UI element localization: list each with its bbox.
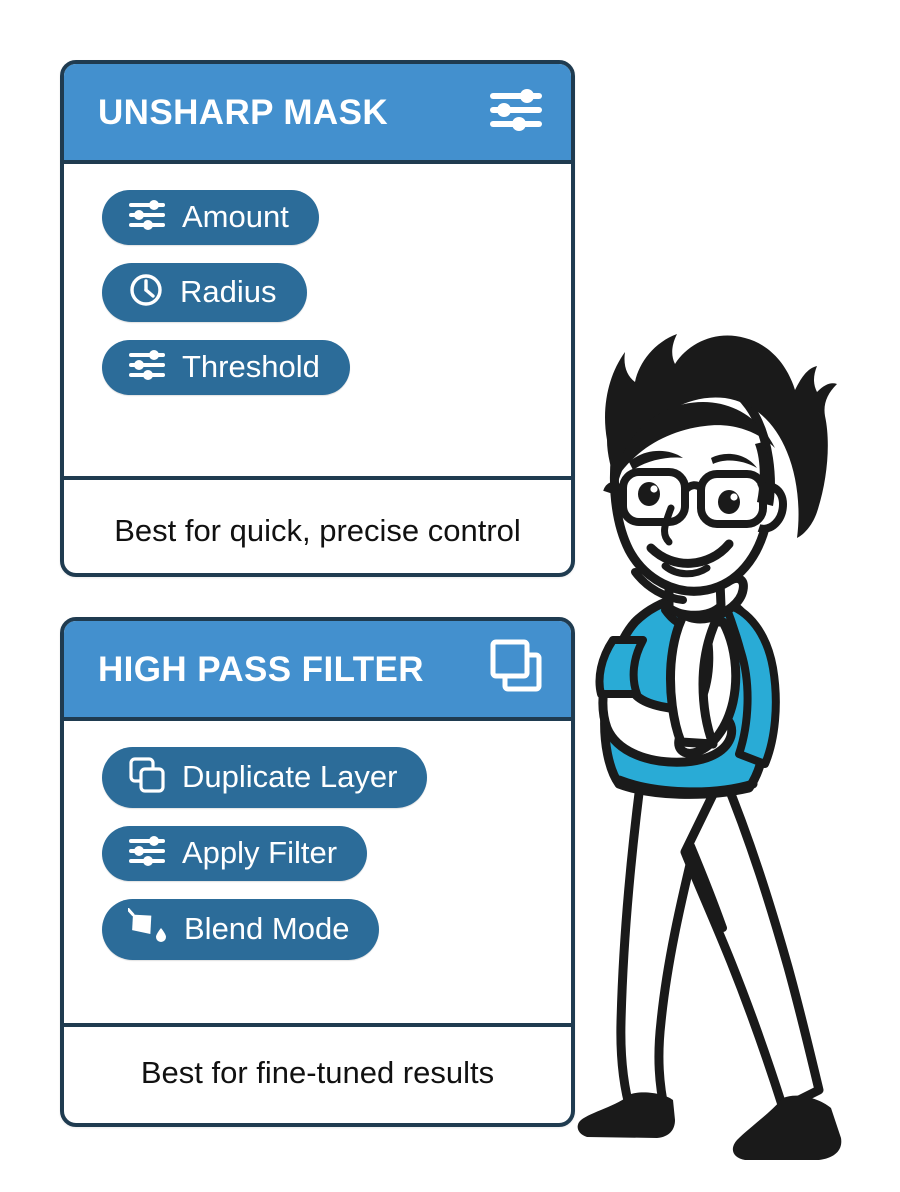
sliders-icon (128, 349, 166, 386)
clock-icon (128, 272, 164, 313)
card-unsharp-mask-body: Amount Radius (64, 164, 571, 476)
option-amount[interactable]: Amount (102, 190, 319, 245)
card-unsharp-mask-footer: Best for quick, precise control (64, 476, 571, 577)
sliders-icon (128, 199, 166, 236)
option-label: Blend Mode (184, 911, 349, 948)
option-label: Apply Filter (182, 835, 337, 872)
option-label: Threshold (182, 349, 320, 386)
card-high-pass-filter-body: Duplicate Layer (64, 721, 571, 1023)
card-high-pass-filter-footer: Best for fine-tuned results (64, 1023, 571, 1119)
option-apply-filter[interactable]: Apply Filter (102, 826, 367, 881)
pill-row: Radius (102, 263, 571, 340)
card-high-pass-filter-header: HIGH PASS FILTER (64, 621, 571, 721)
option-duplicate-layer[interactable]: Duplicate Layer (102, 747, 427, 808)
card-unsharp-mask-title: UNSHARP MASK (98, 95, 388, 130)
paint-bucket-icon (128, 908, 168, 951)
pill-row: Amount (102, 190, 571, 263)
copy-icon (128, 756, 166, 799)
pill-row: Duplicate Layer (102, 747, 571, 826)
option-threshold[interactable]: Threshold (102, 340, 350, 395)
sliders-icon (489, 88, 543, 137)
layers-icon (489, 638, 543, 701)
option-label: Radius (180, 274, 277, 311)
pill-row: Blend Mode (102, 899, 571, 978)
option-label: Duplicate Layer (182, 759, 397, 796)
option-radius[interactable]: Radius (102, 263, 307, 322)
sliders-icon (128, 835, 166, 872)
pill-row: Apply Filter (102, 826, 571, 899)
option-blend-mode[interactable]: Blend Mode (102, 899, 379, 960)
footer-text: Best for quick, precise control (114, 512, 521, 549)
pill-row: Threshold (102, 340, 571, 413)
footer-text: Best for fine-tuned results (141, 1054, 494, 1091)
card-unsharp-mask-header: UNSHARP MASK (64, 64, 571, 164)
page-canvas: UNSHARP MASK (0, 0, 900, 1192)
thinking-man-illustration (573, 322, 900, 1172)
card-unsharp-mask: UNSHARP MASK (60, 60, 575, 577)
option-label: Amount (182, 199, 289, 236)
card-high-pass-filter-title: HIGH PASS FILTER (98, 652, 424, 687)
card-high-pass-filter: HIGH PASS FILTER Duplicate Lay (60, 617, 575, 1127)
